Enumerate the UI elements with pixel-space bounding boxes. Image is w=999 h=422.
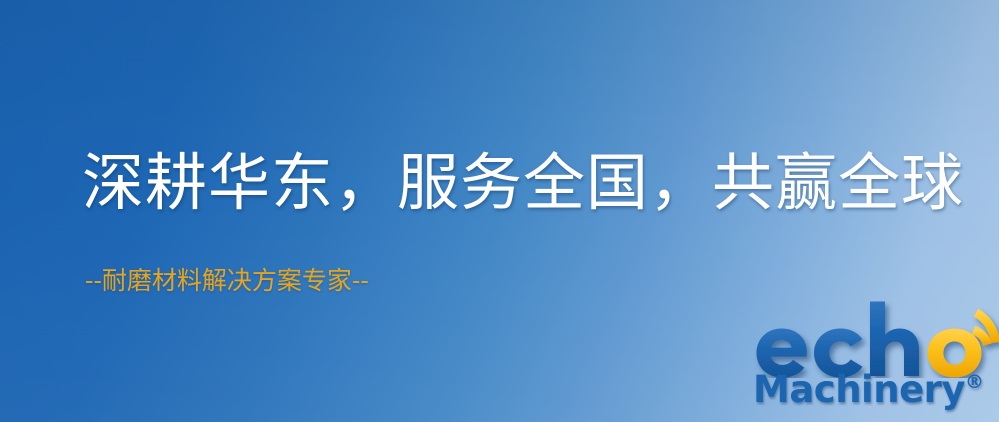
hero-banner: 深耕华东，服务全国，共赢全球 --耐磨材料解决方案专家--	[0, 0, 999, 422]
echo-machinery-logo[interactable]: Machinery®	[745, 300, 999, 422]
logo-tagline-text: Machinery	[753, 368, 965, 411]
logo-tagline: Machinery®	[753, 368, 984, 411]
echo-wordmark	[747, 300, 999, 378]
banner-subtitle: --耐磨材料解决方案专家--	[85, 268, 369, 293]
logo-letters-ech	[757, 302, 920, 378]
banner-headline: 深耕华东，服务全国，共赢全球	[82, 152, 964, 214]
registered-trademark-icon: ®	[965, 371, 984, 393]
